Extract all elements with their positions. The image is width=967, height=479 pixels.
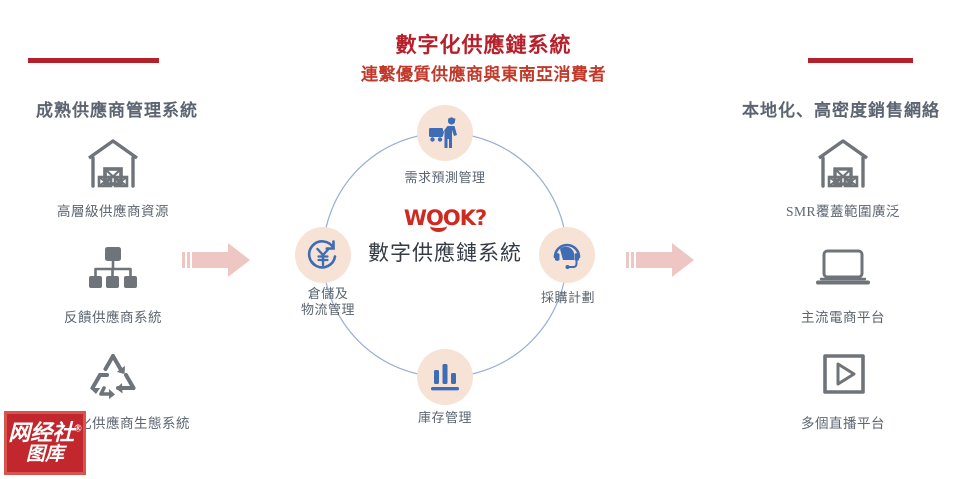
infographic-canvas: 數字化供應鏈系統 連繫優質供應商與東南亞消費者 成熟供應商管理系統 本地化、高密… [0, 0, 967, 479]
flow-arrow-right [626, 240, 696, 285]
node-left-label-line1: 倉儲及 [308, 286, 349, 301]
node-left-label-line2: 物流管理 [301, 302, 355, 317]
wook-logo: WOOK? [404, 208, 486, 229]
center-ring: 需求預測管理 倉儲及 物流管理 [290, 100, 600, 410]
video-play-icon [748, 344, 938, 406]
watermark-line2: 图库 [26, 445, 64, 465]
right-item-1: 主流電商平台 [748, 238, 938, 326]
node-warehouse-logistics[interactable] [295, 227, 351, 283]
laptop-icon [748, 238, 938, 300]
warehouse-icon [18, 132, 208, 194]
right-item-2: 多個直播平台 [748, 344, 938, 432]
watermark-text-main: 网经社 [8, 420, 74, 445]
node-inventory-management[interactable] [417, 349, 473, 405]
wook-smile-icon [430, 220, 447, 232]
left-item-0-label: 高層級供應商資源 [18, 200, 208, 220]
warehouse-icon [748, 132, 938, 194]
node-demand-forecast[interactable] [417, 105, 473, 161]
watermark-line1: 网经社® [8, 421, 82, 444]
center-title: 數字供應鏈系統 [345, 237, 545, 267]
page-title: 數字化供應鏈系統 [0, 29, 967, 59]
left-column-heading: 成熟供應商管理系統 [36, 96, 198, 121]
node-right-label: 採購計劃 [526, 290, 610, 306]
node-procurement-plan[interactable] [539, 227, 595, 283]
wook-logo-mark: ? [475, 206, 486, 230]
left-item-1-label: 反饋供應商系統 [18, 306, 208, 326]
watermark-logo: 网经社® 图库 [4, 411, 86, 475]
left-item-0: 高層級供應商資源 [18, 132, 208, 220]
right-item-1-label: 主流電商平台 [748, 306, 938, 326]
flow-arrow-left [182, 240, 252, 285]
page-subtitle: 連繫優質供應商與東南亞消費者 [0, 60, 967, 85]
node-left-label: 倉儲及 物流管理 [292, 286, 364, 319]
right-item-0: SMR覆蓋範圍廣泛 [748, 132, 938, 220]
right-item-0-label: SMR覆蓋範圍廣泛 [748, 200, 938, 220]
node-bottom-label: 庫存管理 [400, 410, 490, 426]
center-brand-block: WOOK? 數字供應鏈系統 [345, 208, 545, 267]
node-top-label: 需求預測管理 [397, 170, 493, 186]
registered-mark-icon: ® [74, 424, 81, 435]
recycle-icon [18, 344, 208, 406]
org-chart-icon [18, 238, 208, 300]
right-column-heading: 本地化、高密度銷售網絡 [742, 96, 940, 121]
left-item-1: 反饋供應商系統 [18, 238, 208, 326]
right-item-2-label: 多個直播平台 [748, 412, 938, 432]
